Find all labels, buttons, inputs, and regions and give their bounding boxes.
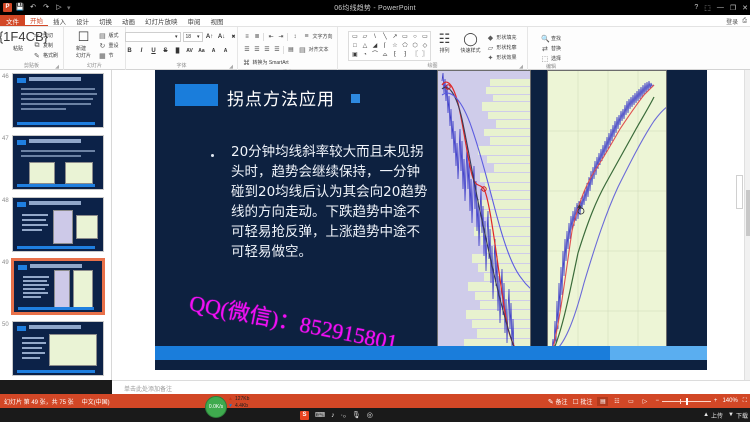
tray-upload-indicator[interactable]: ▲ 上传 xyxy=(703,411,723,420)
thumb-title-bar xyxy=(29,325,81,329)
copy-icon: ⧉ xyxy=(33,42,41,50)
chevron-down-icon: ▾ xyxy=(197,34,200,40)
downtrend-chart-svg xyxy=(438,71,531,355)
slide-editing-area: 拐点方法应用 20分钟均线斜率较大而且未见拐头时，趋势会继续保持，一分钟碰到20… xyxy=(112,70,750,380)
slide-sorter-view-button[interactable]: ☷ xyxy=(611,397,622,406)
thumbnail-number: 47 xyxy=(2,136,9,142)
arrange-button[interactable]: ☷ 排列 xyxy=(433,31,455,54)
align-left-button[interactable]: ☰ xyxy=(242,45,251,54)
thumb-title-badge xyxy=(17,202,26,207)
select-label: 选择 xyxy=(551,55,561,62)
music-icon[interactable]: ♪ xyxy=(331,412,335,419)
bullets-button[interactable]: ≡ xyxy=(242,32,251,41)
signin-label[interactable]: 登录 xyxy=(726,17,738,26)
align-right-button[interactable]: ☰ xyxy=(262,45,271,54)
slideshow-view-button[interactable]: ▷ xyxy=(639,397,650,406)
section-icon: ▦ xyxy=(98,52,106,60)
shape-cell[interactable]: ▣ xyxy=(350,51,359,59)
reset-icon: ↻ xyxy=(98,42,106,50)
thumb-title-bar xyxy=(29,139,81,143)
normal-view-button[interactable]: ▤ xyxy=(597,397,608,406)
thumb-bottom-bar xyxy=(17,370,95,373)
align-text-label: 对齐文本 xyxy=(308,46,328,53)
comments-label: 批注 xyxy=(580,400,592,406)
slide-vertical-scrollbar[interactable] xyxy=(744,70,750,380)
font-size-combo[interactable]: 18 ▾ xyxy=(183,32,203,42)
text-shadow-button[interactable]: █ xyxy=(173,46,183,56)
arrange-label: 排列 xyxy=(439,47,449,54)
zoom-slider[interactable]: − + xyxy=(655,398,717,404)
shape-cell[interactable]: ▭ xyxy=(350,33,359,41)
font-name-combo[interactable]: ▾ xyxy=(125,32,181,42)
ribbon-group-editing: 🔍 查找 ⇄ 替换 ⬚ 选择 编辑 xyxy=(528,27,574,70)
tray-download-indicator[interactable]: ▼ 下载 xyxy=(728,411,748,420)
upload-value: 127Kb xyxy=(235,396,249,403)
view-buttons: ▤ ☷ ▭ ▷ xyxy=(597,397,650,406)
cut-button[interactable]: ✂ 剪切 xyxy=(33,31,58,40)
numbering-button[interactable]: ≣ xyxy=(252,32,261,41)
quick-styles-icon: ◯ xyxy=(463,32,478,46)
tab-review[interactable]: 审阅 xyxy=(183,15,206,26)
clipboard-group-label: 剪贴板 ◢ xyxy=(3,62,60,70)
font-group-label: 字体 ◢ xyxy=(129,62,234,70)
thumbnail-item-50[interactable]: 50 xyxy=(0,318,112,380)
status-bar: 幻灯片 第 49 张，共 75 张 中文(中国) ✎ 备注 ☐ 批注 ▤ ☷ ▭… xyxy=(0,394,750,408)
thumbnail-item-47[interactable]: 47 xyxy=(0,132,112,194)
ime-toolbox-icon[interactable]: ◎ xyxy=(367,411,373,419)
punctuation-icon[interactable]: ·₀ xyxy=(341,412,346,419)
decrease-indent-button[interactable]: ⇤ xyxy=(266,32,275,41)
close-button[interactable]: ✕ xyxy=(742,4,748,12)
font-style-row: B I U S █ AV Aa A A xyxy=(125,46,231,56)
shape-cell[interactable]: △ xyxy=(360,42,369,50)
text-highlight-button[interactable]: A xyxy=(221,46,231,56)
comments-toggle-button[interactable]: ☐ 批注 xyxy=(572,397,592,406)
upload-arrow-icon: ▲ xyxy=(703,412,709,418)
section-button[interactable]: ▦ 节 xyxy=(98,51,118,60)
drawing-group-label: 绘图 ◢ xyxy=(341,62,524,70)
help-icon[interactable]: ? xyxy=(694,4,698,11)
fit-slide-to-window-icon[interactable]: ⛶ xyxy=(743,398,747,405)
shape-fill-label: 形状填充 xyxy=(496,34,516,41)
zoom-track[interactable] xyxy=(662,401,711,402)
ribbon-right-controls: 登录 ⎙ xyxy=(726,15,747,27)
scrollbar-thumb[interactable] xyxy=(746,190,750,236)
tab-view[interactable]: 视图 xyxy=(206,15,229,26)
current-slide[interactable]: 拐点方法应用 20分钟均线斜率较大而且未见拐头时，趋势会继续保持，一分钟碰到20… xyxy=(155,70,707,370)
shape-cell[interactable]: ▱ xyxy=(360,33,369,41)
bold-button[interactable]: B xyxy=(125,46,135,56)
find-button[interactable]: 🔍 查找 xyxy=(541,34,561,43)
ribbon-home-tab: \u{1F4CB} 粘贴 ✂ 剪切 ⧉ 复制 ✎ 格式刷 xyxy=(0,27,750,70)
language-label[interactable]: 中文(中国) xyxy=(82,397,110,406)
copy-button[interactable]: ⧉ 复制 xyxy=(33,41,58,50)
quick-styles-button[interactable]: ◯ 快速样式 xyxy=(457,31,483,54)
copy-label: 复制 xyxy=(43,42,53,49)
slide-title[interactable]: 拐点方法应用 xyxy=(227,85,335,110)
thumbnail-item-48[interactable]: 48 xyxy=(0,194,112,256)
shape-fill-button[interactable]: ◆ 形状填充 xyxy=(486,33,516,42)
format-painter-button[interactable]: ✎ 格式刷 xyxy=(33,51,58,60)
find-label: 查找 xyxy=(551,35,561,42)
quick-styles-label: 快速样式 xyxy=(460,47,480,54)
uptrend-chart[interactable]: ✱ xyxy=(547,70,667,355)
title-bar: P 💾 ↶ ↷ ▷ ▾ 06均线趋势 - PowerPoint ? ⬚ — ❐ … xyxy=(0,0,750,15)
thumb-title-badge xyxy=(18,265,27,270)
paragraph-row-3: ⌘ 转换为 SmartArt xyxy=(242,58,288,67)
download-value: 4.4Kb xyxy=(235,403,248,410)
zoom-level-label[interactable]: 140% xyxy=(722,398,737,404)
shape-cell[interactable]: ▭ xyxy=(400,33,409,41)
status-right: ✎ 备注 ☐ 批注 ▤ ☷ ▭ ▷ − + 140% xyxy=(548,397,747,406)
align-text-icon: ▤ xyxy=(298,46,306,54)
tab-slideshow[interactable]: 幻灯片放映 xyxy=(140,15,183,26)
shapes-gallery[interactable]: ▭ ▱ \ ╲ ↗ ▭ ○ ▭ □ △ ◢ ⌈ ☆ ⬠ ⬡ ◇ ▣ xyxy=(348,31,431,61)
shape-cell[interactable]: ○ xyxy=(410,33,419,41)
slides-group-label: 幻灯片 xyxy=(67,62,122,70)
text-direction-label: 文字方向 xyxy=(312,33,332,40)
upload-label: 上传 xyxy=(711,411,723,420)
replace-icon: ⇄ xyxy=(541,45,549,53)
network-speed-value: 0.0K/s xyxy=(209,404,223,410)
network-monitor-details: ▲ 127Kb ▼ 4.4Kb xyxy=(228,396,249,410)
shape-cell[interactable]: \ xyxy=(370,33,379,41)
format-painter-label: 格式刷 xyxy=(43,52,58,59)
shape-cell[interactable]: □ xyxy=(350,42,359,50)
tab-file[interactable]: 文件 xyxy=(0,15,25,26)
ribbon-group-slides: ☐ 新建幻灯片 ▤ 版式 ↻ 重设 ▦ 节 xyxy=(64,27,126,70)
thumb-bottom-bar xyxy=(17,122,95,125)
search-icon: 🔍 xyxy=(541,35,549,43)
italic-button[interactable]: I xyxy=(137,46,147,56)
shape-effects-label: 形状效果 xyxy=(496,54,516,61)
thumb-title-badge xyxy=(17,326,26,331)
ribbon-group-font: ▾ 18 ▾ A↑ A↓ ✖ B I U S █ AV xyxy=(126,27,238,70)
window-title: 06均线趋势 - PowerPoint xyxy=(0,3,750,13)
shape-cell[interactable]: 〗 xyxy=(420,51,429,59)
thumb-title-bar xyxy=(29,77,81,81)
shape-cell[interactable]: ⌒ xyxy=(370,51,379,59)
reset-label: 重设 xyxy=(108,42,118,49)
new-slide-button[interactable]: ☐ 新建幻灯片 xyxy=(70,29,96,59)
tab-design[interactable]: 设计 xyxy=(71,15,94,26)
shape-effects-icon: ✦ xyxy=(486,54,494,62)
thumb-bottom-bar xyxy=(18,307,94,310)
ribbon-group-clipboard: \u{1F4CB} 粘贴 ✂ 剪切 ⧉ 复制 ✎ 格式刷 xyxy=(0,27,64,70)
font-name-row: ▾ 18 ▾ A↑ A↓ ✖ xyxy=(125,32,239,42)
comment-icon: ☐ xyxy=(572,399,578,406)
reset-button[interactable]: ↻ 重设 xyxy=(98,41,118,50)
shape-cell[interactable]: ⬡ xyxy=(410,42,419,50)
thumb-title-bar xyxy=(30,264,82,268)
clear-formatting-button[interactable]: ✖ xyxy=(229,32,239,42)
notes-label: 备注 xyxy=(555,400,567,406)
ribbon-display-options-icon[interactable]: ⬚ xyxy=(704,4,711,12)
align-text-button[interactable]: ▤ 对齐文本 xyxy=(298,45,328,54)
thumbnail-number: 49 xyxy=(2,260,9,266)
replace-button[interactable]: ⇄ 替换 xyxy=(541,44,561,53)
font-size-value: 18 xyxy=(186,34,192,40)
paintbrush-icon: ✎ xyxy=(33,52,41,60)
upload-indicator-icon: ▲ xyxy=(228,396,233,403)
increase-indent-button[interactable]: ⇥ xyxy=(276,32,285,41)
shape-cell[interactable]: ⁆ xyxy=(400,51,409,59)
slide-footer-bar-accent xyxy=(610,346,707,360)
thumbnail-number: 50 xyxy=(2,322,9,328)
status-left: 幻灯片 第 49 张，共 75 张 中文(中国) xyxy=(0,397,110,406)
notes-icon: ✎ xyxy=(548,399,554,406)
notes-pane[interactable]: 单击此处添加备注 xyxy=(112,380,750,394)
drawing-label-text: 绘图 xyxy=(427,63,437,69)
chevron-down-icon: ▾ xyxy=(175,34,178,40)
new-slide-label: 新建幻灯片 xyxy=(76,45,91,59)
reading-view-button[interactable]: ▭ xyxy=(625,397,636,406)
smartart-icon: ⌘ xyxy=(242,59,250,67)
thumb-bottom-bar xyxy=(17,246,95,249)
scissors-icon: ✂ xyxy=(33,32,41,40)
svg-text:✱: ✱ xyxy=(577,204,582,211)
font-label-text: 字体 xyxy=(176,63,186,69)
layout-button[interactable]: ▤ 版式 xyxy=(98,31,118,40)
zoom-midpoint-mark xyxy=(680,399,681,404)
replace-label: 替换 xyxy=(551,45,561,52)
thumbnail-slide[interactable] xyxy=(12,73,104,128)
paste-button[interactable]: \u{1F4CB} 粘贴 xyxy=(5,29,31,52)
thumbnail-item-49[interactable]: 49 xyxy=(0,256,112,318)
shape-cell[interactable]: ◔ xyxy=(360,51,369,59)
slides-label-text: 幻灯片 xyxy=(87,63,102,69)
shape-outline-label: 形状轮廓 xyxy=(496,44,516,51)
bullet-dot-icon xyxy=(211,154,214,157)
layout-icon: ▤ xyxy=(98,32,106,40)
align-center-button[interactable]: ☰ xyxy=(252,45,261,54)
network-speed-monitor[interactable]: 0.0K/s xyxy=(205,396,227,418)
tab-animations[interactable]: 动画 xyxy=(117,15,140,26)
paste-label: 粘贴 xyxy=(13,45,23,52)
thumbnail-slide[interactable] xyxy=(12,321,104,376)
format-pane-tab[interactable] xyxy=(736,175,743,209)
shape-outline-button[interactable]: ▱ 形状轮廓 xyxy=(486,43,516,52)
window-controls: ? ⬚ — ❐ ✕ xyxy=(694,0,748,15)
ribbon-tab-bar: 文件 开始 插入 设计 切换 动画 幻灯片放映 审阅 视图 登录 ⎙ xyxy=(0,15,750,27)
paragraph-row-1: ≡ ≣ ⇤ ⇥ ↕ ≡ 文字方向 xyxy=(242,32,332,41)
shape-cell[interactable]: ⬠ xyxy=(400,42,409,50)
select-button[interactable]: ⬚ 选择 xyxy=(541,54,561,63)
thumb-title-badge xyxy=(17,140,26,145)
slide-count-label: 幻灯片 第 49 张，共 75 张 xyxy=(4,397,74,406)
clipboard-label-text: 剪贴板 xyxy=(24,63,39,69)
tab-insert[interactable]: 插入 xyxy=(48,15,71,26)
sogou-ime-toolbar: S ⌨ ♪ ·₀ 🎙 ◎ xyxy=(300,408,373,422)
character-spacing-button[interactable]: AV xyxy=(185,46,195,56)
shape-cell[interactable]: ▭ xyxy=(420,33,429,41)
justify-button[interactable]: ☰ xyxy=(272,45,281,54)
slide-thumbnail-panel[interactable]: 46 47 xyxy=(0,70,112,380)
thumbnail-number: 48 xyxy=(2,198,9,204)
keyboard-icon[interactable]: ⌨ xyxy=(315,411,325,419)
new-slide-icon: ☐ xyxy=(78,30,90,44)
notes-placeholder[interactable]: 单击此处添加备注 xyxy=(124,384,172,393)
zoom-in-button[interactable]: + xyxy=(714,398,718,404)
shape-outline-icon: ▱ xyxy=(486,44,494,52)
shape-cell[interactable]: ╲ xyxy=(380,33,389,41)
thumb-bottom-bar xyxy=(17,184,95,187)
text-direction-button[interactable]: ≡ 文字方向 xyxy=(302,32,332,41)
arrange-icon: ☷ xyxy=(439,32,451,46)
select-icon: ⬚ xyxy=(541,55,549,63)
thumb-title-badge xyxy=(17,78,26,83)
download-indicator-icon: ▼ xyxy=(228,403,233,410)
restore-button[interactable]: ❐ xyxy=(730,4,736,12)
shape-cell[interactable]: ◢ xyxy=(370,42,379,50)
change-case-button[interactable]: Aa xyxy=(197,46,207,56)
underline-button[interactable]: U xyxy=(149,46,159,56)
thumbnail-item-46[interactable]: 46 xyxy=(0,70,111,132)
shape-fill-icon: ◆ xyxy=(486,34,494,42)
zoom-out-button[interactable]: − xyxy=(655,398,659,404)
decrease-font-size-button[interactable]: A↓ xyxy=(217,32,227,42)
line-spacing-button[interactable]: ↕ xyxy=(290,32,299,41)
increase-font-size-button[interactable]: A↑ xyxy=(205,32,215,42)
thumb-title-bar xyxy=(29,201,81,205)
shape-cell[interactable]: ↗ xyxy=(390,33,399,41)
shape-cell[interactable]: ☆ xyxy=(390,42,399,50)
zoom-thumb[interactable] xyxy=(686,398,688,405)
shape-cell[interactable]: ⌈ xyxy=(380,42,389,50)
downtrend-chart[interactable] xyxy=(437,70,531,355)
font-color-button[interactable]: A xyxy=(209,46,219,56)
paragraph-row-2: ☰ ☰ ☰ ☰ ▤ ▤ 对齐文本 xyxy=(242,45,328,54)
shape-cell[interactable]: ⁅ xyxy=(390,51,399,59)
share-icon[interactable]: ⎙ xyxy=(742,18,747,25)
cut-label: 剪切 xyxy=(43,32,53,39)
thumbnail-number: 46 xyxy=(2,74,9,80)
thumbnail-slide-selected[interactable] xyxy=(12,259,104,314)
taskbar-background xyxy=(0,408,750,422)
windows-taskbar: S ⌨ ♪ ·₀ 🎙 ◎ ▲ 上传 ▼ 下载 xyxy=(0,408,750,422)
thumbnail-slide[interactable] xyxy=(12,197,104,252)
shape-cell[interactable]: ⌓ xyxy=(380,51,389,59)
uptrend-chart-svg: ✱ xyxy=(548,71,667,355)
tab-transitions[interactable]: 切换 xyxy=(94,15,117,26)
download-label: 下载 xyxy=(736,411,748,420)
download-arrow-icon: ▼ xyxy=(728,412,734,418)
sogou-logo-icon[interactable]: S xyxy=(300,411,309,420)
shape-cell[interactable]: ◇ xyxy=(420,42,429,50)
thumbnail-slide[interactable] xyxy=(12,135,104,190)
layout-label: 版式 xyxy=(108,32,118,39)
system-tray: ▲ 上传 ▼ 下载 xyxy=(703,408,748,422)
minimize-button[interactable]: — xyxy=(717,4,724,11)
tab-home[interactable]: 开始 xyxy=(25,15,48,26)
slide-title-accent-block xyxy=(175,84,218,106)
microphone-icon[interactable]: 🎙 xyxy=(352,411,361,419)
section-label: 节 xyxy=(108,52,113,59)
powerpoint-window: P 💾 ↶ ↷ ▷ ▾ 06均线趋势 - PowerPoint ? ⬚ — ❐ … xyxy=(0,0,750,422)
text-direction-icon: ≡ xyxy=(302,33,310,40)
smartart-label: 转换为 SmartArt xyxy=(252,59,288,66)
ribbon-group-paragraph: ≡ ≣ ⇤ ⇥ ↕ ≡ 文字方向 ☰ ☰ ☰ ☰ xyxy=(238,27,338,70)
slide-title-square-icon xyxy=(351,94,360,103)
columns-button[interactable]: ▤ xyxy=(286,45,295,54)
slide-body-text[interactable]: 20分钟均线斜率较大而且未见拐头时，趋势会继续保持，一分钟碰到20均线后认为其会… xyxy=(231,142,431,262)
strikethrough-button[interactable]: S xyxy=(161,46,171,56)
ribbon-group-drawing: ▭ ▱ \ ╲ ↗ ▭ ○ ▭ □ △ ◢ ⌈ ☆ ⬠ ⬡ ◇ ▣ xyxy=(338,27,528,70)
shape-effects-button[interactable]: ✦ 形状效果 xyxy=(486,53,516,62)
convert-to-smartart-button[interactable]: ⌘ 转换为 SmartArt xyxy=(242,58,288,67)
notes-toggle-button[interactable]: ✎ 备注 xyxy=(548,397,568,406)
shape-cell[interactable]: 〖 xyxy=(410,51,419,59)
